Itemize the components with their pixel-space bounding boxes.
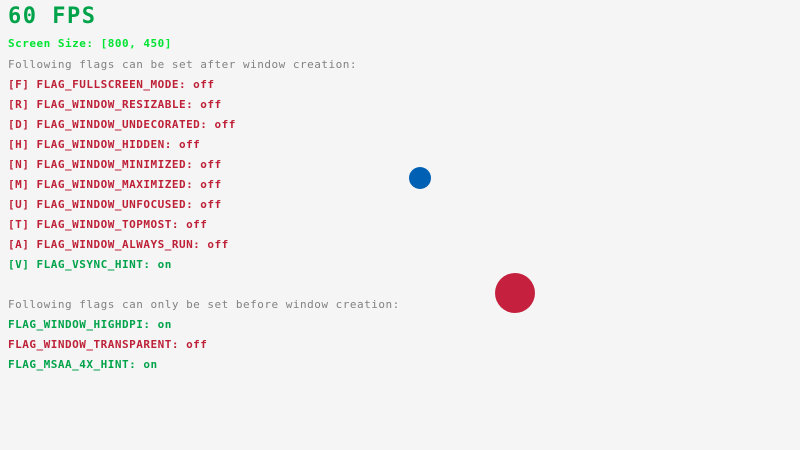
flag-line-flag-window-always-run[interactable]: [A] FLAG_WINDOW_ALWAYS_RUN: off [8,239,229,250]
flag-line-flag-window-undecorated[interactable]: [D] FLAG_WINDOW_UNDECORATED: off [8,119,236,130]
fps-counter: 60 FPS [8,6,96,28]
flag-line-flag-window-minimized[interactable]: [N] FLAG_WINDOW_MINIMIZED: off [8,159,222,170]
flag-line-flag-window-topmost[interactable]: [T] FLAG_WINDOW_TOPMOST: off [8,219,207,230]
flag-line-flag-fullscreen-mode[interactable]: [F] FLAG_FULLSCREEN_MODE: off [8,79,215,90]
flag-line-flag-window-resizable[interactable]: [R] FLAG_WINDOW_RESIZABLE: off [8,99,222,110]
before-creation-heading: Following flags can only be set before w… [8,299,400,310]
flag-line-flag-window-transparent[interactable]: FLAG_WINDOW_TRANSPARENT: off [8,339,207,350]
flag-line-flag-window-unfocused[interactable]: [U] FLAG_WINDOW_UNFOCUSED: off [8,199,222,210]
flag-line-flag-vsync-hint[interactable]: [V] FLAG_VSYNC_HINT: on [8,259,172,270]
blue-ball-shape [409,167,431,189]
flag-line-flag-window-hidden[interactable]: [H] FLAG_WINDOW_HIDDEN: off [8,139,200,150]
flag-line-flag-msaa-4x-hint[interactable]: FLAG_MSAA_4X_HINT: on [8,359,158,370]
screen-size-label: Screen Size: [800, 450] [8,38,172,49]
raylib-window-canvas: 60 FPS Screen Size: [800, 450] Following… [0,0,800,450]
red-ball-shape [495,273,535,313]
after-creation-heading: Following flags can be set after window … [8,59,357,70]
flag-line-flag-window-maximized[interactable]: [M] FLAG_WINDOW_MAXIMIZED: off [8,179,222,190]
flag-line-flag-window-highdpi[interactable]: FLAG_WINDOW_HIGHDPI: on [8,319,172,330]
